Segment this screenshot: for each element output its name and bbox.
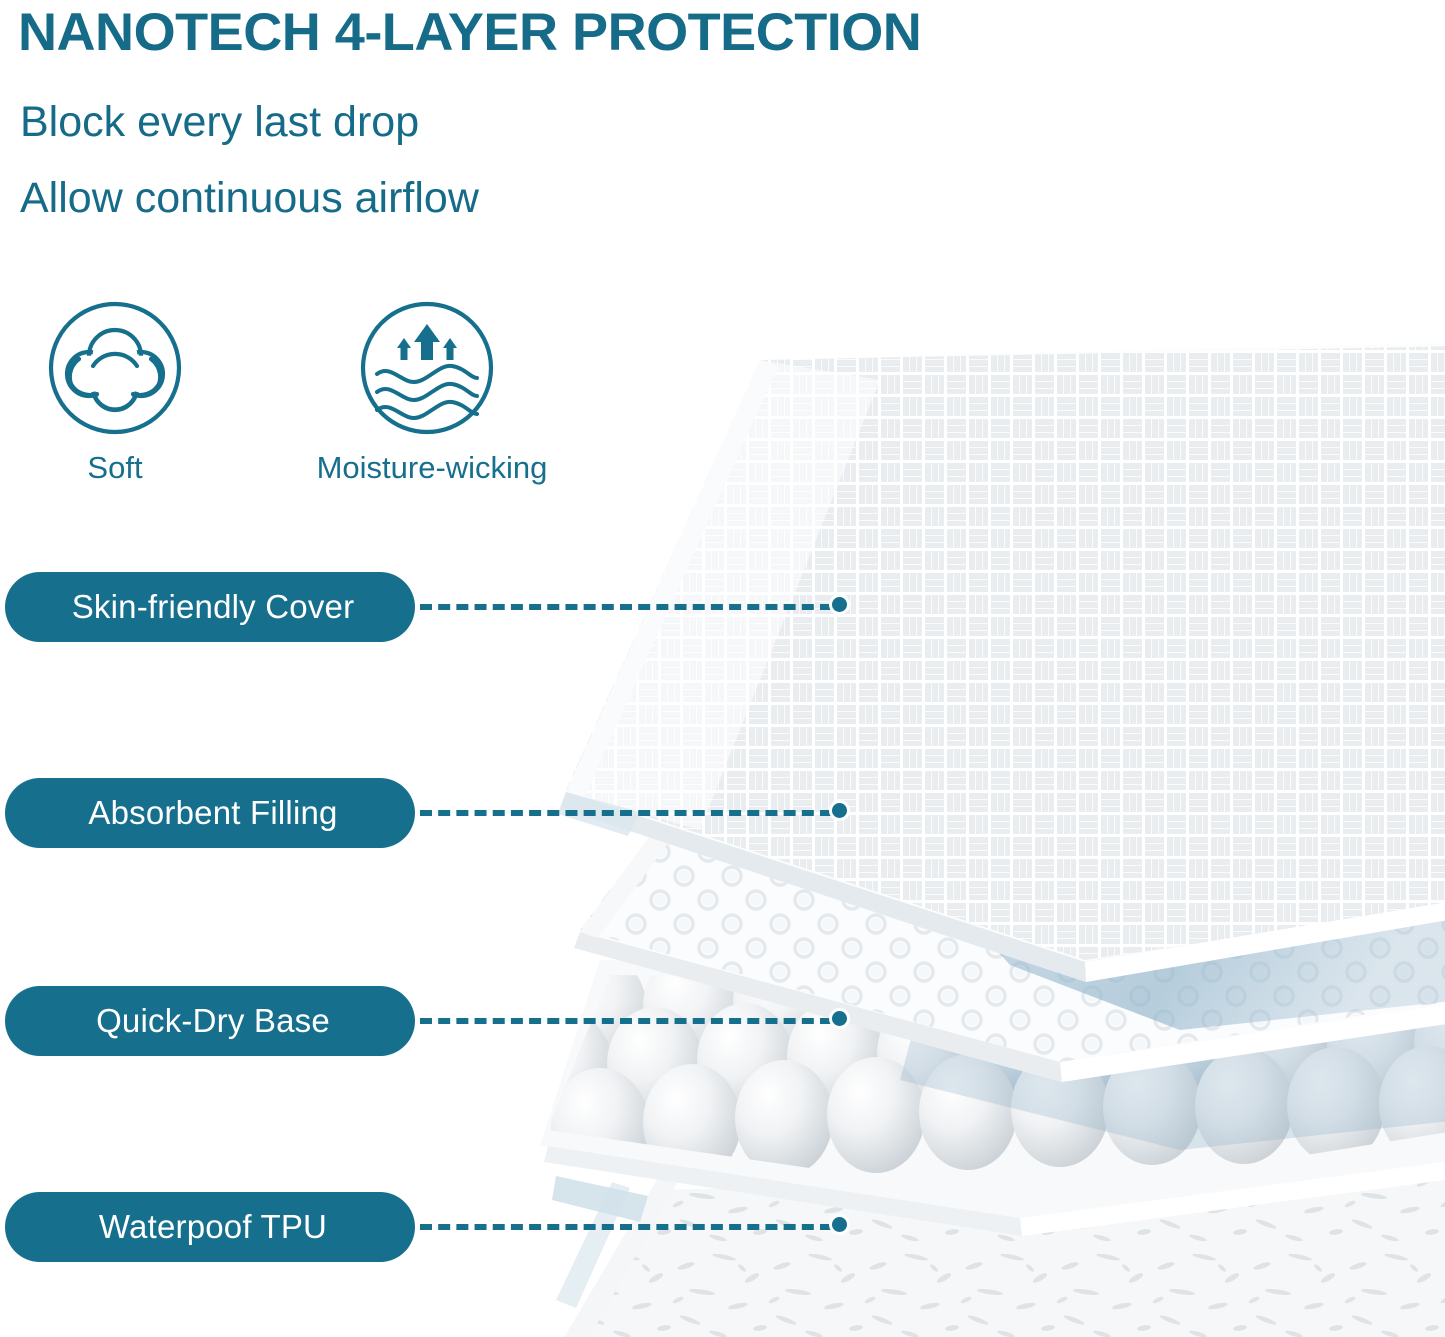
feature-soft: Soft <box>45 298 185 498</box>
callout-dot-skin-friendly-cover <box>829 594 850 615</box>
moisture-wicking-icon <box>357 298 497 438</box>
layer-skin-friendly-cover <box>550 335 1445 1000</box>
layer-label-text: Skin-friendly Cover <box>5 590 415 624</box>
feature-moisture-wicking-label: Moisture-wicking <box>317 450 548 486</box>
leader-line-waterproof-tpu <box>420 1224 832 1230</box>
callout-dot-waterproof-tpu <box>829 1214 850 1235</box>
callout-dot-absorbent-filling <box>829 800 850 821</box>
layer-label-quick-dry-base: Quick-Dry Base <box>5 986 415 1056</box>
cloud-icon <box>45 298 185 438</box>
callout-dot-quick-dry-base <box>829 1008 850 1029</box>
layer-label-text: Waterpoof TPU <box>5 1210 415 1244</box>
layer-label-text: Absorbent Filling <box>5 796 415 830</box>
layer-label-skin-friendly-cover: Skin-friendly Cover <box>5 572 415 642</box>
leader-line-quick-dry-base <box>420 1018 832 1024</box>
feature-moisture-wicking: Moisture-wicking <box>357 298 507 498</box>
layer-waterproof-tpu <box>540 1140 1445 1337</box>
layer-absorbent-filling <box>560 760 1445 1082</box>
layer-quick-dry-base <box>517 931 1445 1236</box>
leader-line-skin-friendly-cover <box>420 604 832 610</box>
layer-label-absorbent-filling: Absorbent Filling <box>5 778 415 848</box>
leader-line-absorbent-filling <box>420 810 832 816</box>
layer-label-waterproof-tpu: Waterpoof TPU <box>5 1192 415 1262</box>
feature-soft-label: Soft <box>87 450 142 486</box>
subtitle-line-2: Allow continuous airflow <box>20 174 479 222</box>
page-title: NANOTECH 4-LAYER PROTECTION <box>18 2 1445 64</box>
layer-label-text: Quick-Dry Base <box>5 1004 415 1038</box>
subtitle-line-1: Block every last drop <box>20 98 419 146</box>
infographic-canvas: NANOTECH 4-LAYER PROTECTION Block every … <box>0 0 1445 1337</box>
